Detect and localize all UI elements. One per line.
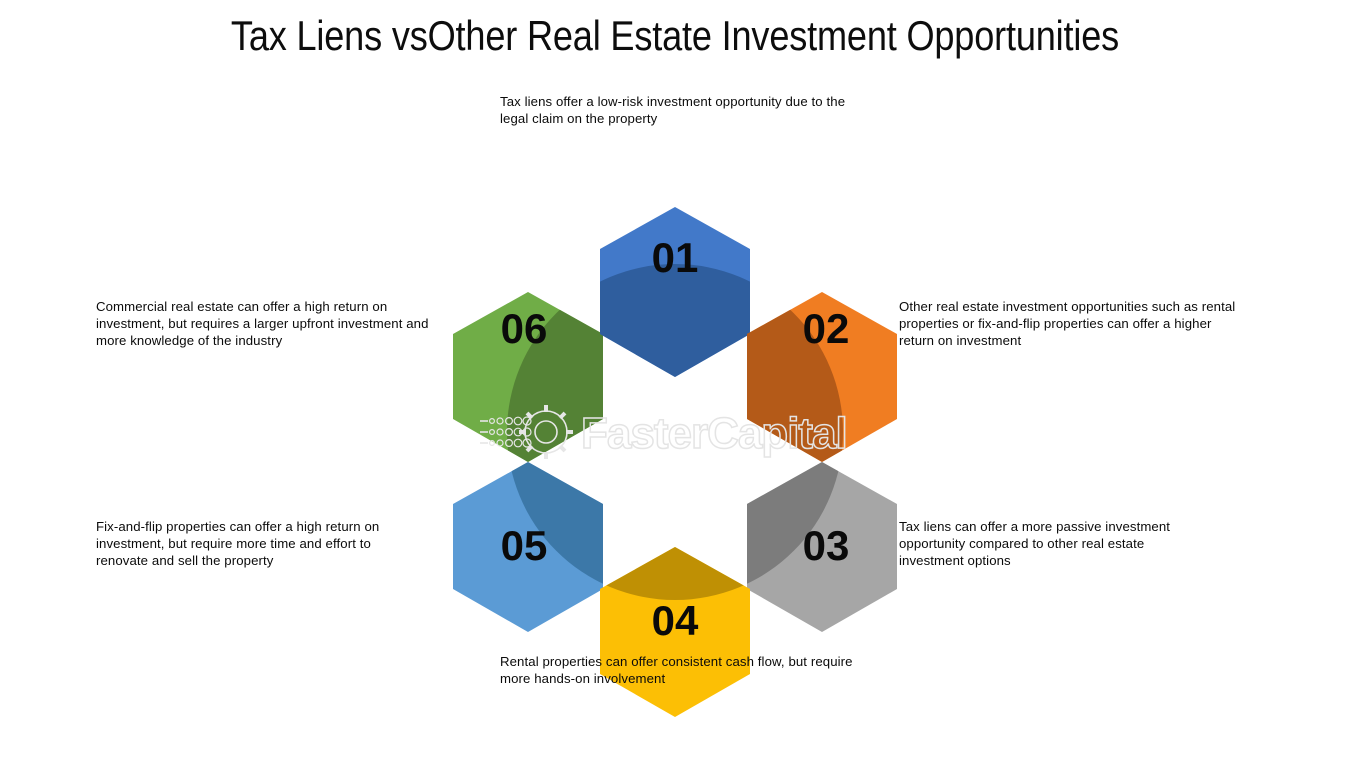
callout-06: Commercial real estate can offer a high … [96, 298, 446, 349]
callout-01: Tax liens offer a low-risk investment op… [500, 93, 860, 127]
hexagon-05-number: 05 [501, 522, 548, 569]
callout-05: Fix-and-flip properties can offer a high… [96, 518, 426, 569]
hexagon-04-number: 04 [652, 597, 699, 644]
hexagon-01-number: 01 [652, 234, 699, 281]
callout-04: Rental properties can offer consistent c… [500, 653, 860, 687]
hexagon-03-number: 03 [803, 522, 850, 569]
callout-02: Other real estate investment opportuniti… [899, 298, 1244, 349]
callout-03: Tax liens can offer a more passive inves… [899, 518, 1209, 569]
hexagon-cycle-diagram: 06 01 02 05 [0, 0, 1350, 759]
hexagon-02-number: 02 [803, 305, 850, 352]
hexagon-06-number: 06 [501, 305, 548, 352]
